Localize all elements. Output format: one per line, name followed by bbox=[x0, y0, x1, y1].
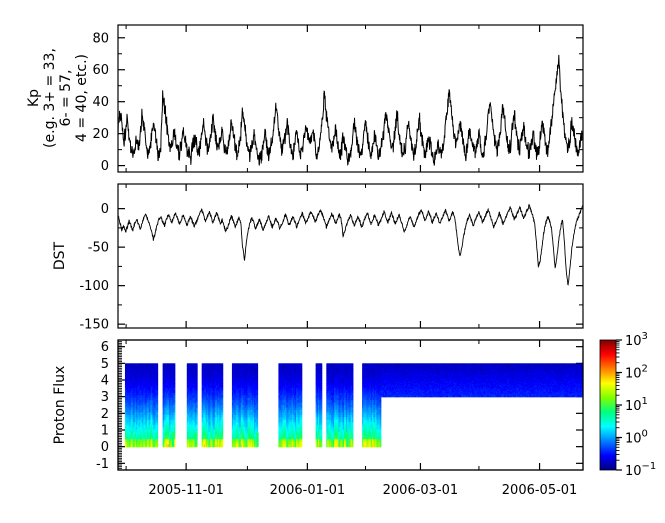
xtick-label-0: 2005-11-01 bbox=[148, 483, 224, 498]
colorbar-tick-label-1: 102 bbox=[625, 364, 648, 382]
colorbar-tick-label-0: 103 bbox=[625, 331, 648, 349]
kp-panel-ytick-label: 80 bbox=[92, 31, 109, 46]
kp-panel-series bbox=[118, 55, 583, 166]
proton-flux-panel-heatmap bbox=[125, 363, 584, 447]
proton-flux-panel-ytick-label: 4 bbox=[101, 374, 109, 389]
proton-flux-axis-label: Proton Flux bbox=[52, 366, 68, 445]
proton-flux-panel-ytick-label: 6 bbox=[101, 340, 109, 355]
kp-axis-label-line2: (e.g. 3+ = 33, bbox=[42, 48, 58, 148]
xtick-label-2: 2006-03-01 bbox=[383, 483, 459, 498]
figure-canvas: 0204060800-50-100-150-101234562005-11-01… bbox=[0, 0, 665, 523]
dst-panel-ytick-label: -150 bbox=[79, 318, 109, 333]
multi-panel-plot: 0204060800-50-100-150-101234562005-11-01… bbox=[0, 0, 665, 523]
colorbar-gradient bbox=[600, 340, 616, 470]
xtick-label-3: 2006-05-01 bbox=[502, 483, 578, 498]
colorbar-tick-label-2: 101 bbox=[625, 396, 648, 414]
xtick-label-1: 2006-01-01 bbox=[270, 483, 346, 498]
kp-axis-label-line4: 4 = 40, etc.) bbox=[74, 54, 90, 142]
dst-panel-frame bbox=[118, 184, 583, 328]
proton-flux-panel-ytick-label: 3 bbox=[101, 390, 109, 405]
dst-panel-ytick-label: -100 bbox=[79, 279, 109, 294]
dst-panel-series bbox=[118, 205, 583, 285]
colorbar-tick-label-3: 100 bbox=[625, 429, 648, 447]
kp-panel-ytick-label: 20 bbox=[92, 127, 109, 142]
kp-panel-ytick-label: 0 bbox=[101, 159, 109, 174]
kp-panel-ytick-label: 40 bbox=[92, 95, 109, 110]
kp-panel-ytick-label: 60 bbox=[92, 63, 109, 78]
kp-axis-label-line3: 6- = 57, bbox=[58, 70, 74, 127]
colorbar-tick-label-4: 10−1 bbox=[625, 461, 656, 479]
dst-panel-ytick-label: -50 bbox=[88, 241, 109, 256]
proton-flux-panel-ytick-label: 2 bbox=[101, 407, 109, 422]
dst-panel-ytick-label: 0 bbox=[101, 202, 109, 217]
proton-flux-panel-ytick-label: 0 bbox=[101, 440, 109, 455]
kp-axis-label-line1: Kp bbox=[26, 89, 42, 107]
dst-axis-label: DST bbox=[52, 241, 68, 270]
proton-flux-panel-ytick-label: 5 bbox=[101, 357, 109, 372]
proton-flux-panel-ytick-label: 1 bbox=[101, 424, 109, 439]
proton-flux-panel-ytick-label: -1 bbox=[96, 457, 109, 472]
